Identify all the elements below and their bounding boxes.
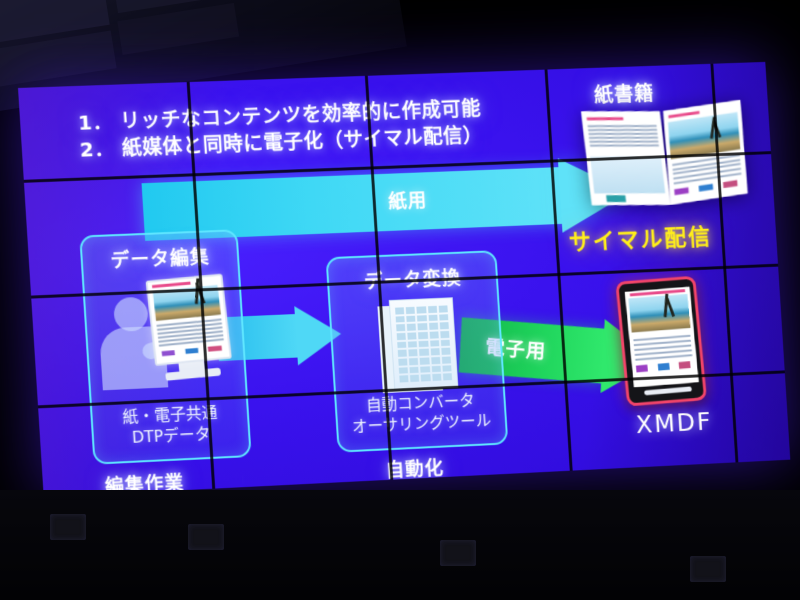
wall-surface: 1． リッチなコンテンツを効率的に作成可能 2． 紙媒体と同時に電子化（サイマル… <box>18 62 790 497</box>
doc-grid-cell <box>428 306 437 313</box>
doc-grid-cell <box>409 358 418 365</box>
doc-grid-cell <box>430 348 439 355</box>
doc-grid-cell <box>439 314 448 321</box>
doc-grid-cell <box>399 376 408 383</box>
doc-grid-cell <box>418 332 427 339</box>
doc-grid-cell <box>396 324 405 331</box>
doc-grid-cell <box>438 305 447 312</box>
box-caption: 自動コンバータ オーサリングツール <box>336 388 505 438</box>
doc-grid-cell <box>443 374 452 381</box>
highlight-label-simulcast: サイマル配信 <box>568 218 713 257</box>
doc-grid-cell <box>398 358 407 365</box>
box-caption: 紙・電子共通 DTPデータ <box>92 400 249 450</box>
doc-grid-cell <box>410 366 419 373</box>
doc-grid-cell <box>441 339 450 346</box>
paper-arrow-label: 紙用 <box>387 186 427 214</box>
box-title: データ編集 <box>82 241 238 274</box>
process-box-data-editing: データ編集 <box>79 229 251 465</box>
doc-grid-cell <box>417 315 426 322</box>
doc-grid-cell <box>429 323 438 330</box>
doc-grid-cell <box>430 340 439 347</box>
tablet-device-icon <box>615 276 707 407</box>
doc-grid-cell <box>429 331 438 338</box>
doc-grid-cell <box>421 366 430 373</box>
doc-grid-cell <box>431 357 440 364</box>
doc-grid-cell <box>410 375 419 382</box>
doc-grid-cell <box>397 333 406 340</box>
tablet-screen <box>625 287 699 388</box>
document-grid-icon <box>377 297 464 395</box>
floor-speaker <box>188 524 224 550</box>
doc-grid-cell <box>442 365 451 372</box>
floor-speaker <box>440 540 476 566</box>
doc-grid-cell <box>397 341 406 348</box>
doc-grid-cell <box>432 374 441 381</box>
slide-bullet-list: 1． リッチなコンテンツを効率的に作成可能 2． 紙媒体と同時に電子化（サイマル… <box>77 95 483 163</box>
box-caption-line-2: DTPデータ <box>131 425 211 448</box>
doc-grid-cell <box>441 348 450 355</box>
floor-speaker <box>690 556 726 582</box>
box-caption-line-1: 紙・電子共通 <box>122 403 218 426</box>
screenshot-stage: 1． リッチなコンテンツを効率的に作成可能 2． 紙媒体と同時に電子化（サイマル… <box>0 0 800 600</box>
doc-grid-cell <box>406 315 415 322</box>
doc-grid-cell <box>419 340 428 347</box>
doc-grid-cell <box>420 357 429 364</box>
tablet-home-bar <box>644 387 692 396</box>
doc-grid-cell <box>418 323 427 330</box>
box-caption-line-2: オーサリングツール <box>351 411 491 436</box>
doc-grid-cell <box>419 349 428 356</box>
doc-grid-cell <box>407 324 416 331</box>
doc-grid-cell <box>421 375 430 382</box>
doc-grid-cell <box>417 306 426 313</box>
box-caption-line-1: 自動コンバータ <box>365 391 475 415</box>
doc-grid-cell <box>399 367 408 374</box>
doc-grid-cell <box>395 307 404 314</box>
doc-grid-cell <box>396 316 405 323</box>
doc-grid-cell <box>406 307 415 314</box>
doc-grid-cell <box>408 332 417 339</box>
output-label-xmdf: XMDF <box>635 407 713 439</box>
doc-grid-cell <box>408 341 417 348</box>
floor-speaker <box>50 514 86 540</box>
doc-grid-cell <box>428 314 437 321</box>
doc-grid-cell <box>440 331 449 338</box>
stage-floor <box>0 490 800 600</box>
doc-grid-cell <box>442 356 451 363</box>
doc-grid-cell <box>398 350 407 357</box>
doc-grid-cells <box>395 305 452 382</box>
step-caption-automation: 自動化 <box>385 453 445 482</box>
doc-grid-cell <box>409 349 418 356</box>
doc-grid-cell <box>431 365 440 372</box>
doc-grid-cell <box>440 322 449 329</box>
output-label-paper-book: 紙書籍 <box>593 78 655 108</box>
